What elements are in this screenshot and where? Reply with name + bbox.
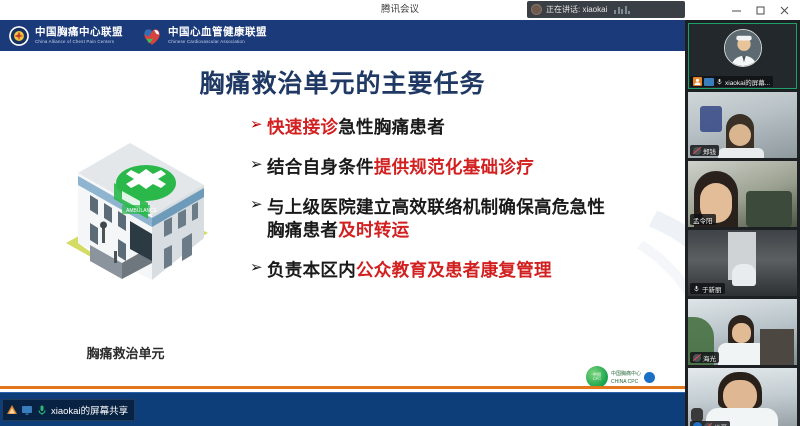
org-chest-pain-alliance: 中国胸痛中心联盟 China Alliance of Chest Pain Ce… [8,25,123,47]
participant-name: 于新丽 [702,284,722,294]
bullet-marker-icon: ➢ [250,156,267,173]
org-name-en: China Alliance of Chest Pain Centers [35,40,123,44]
bullet-text: 快速接诊急性胸痛患者 [267,116,445,139]
participant-rail[interactable]: xiaokai的屏幕... 郑钱 孟令阳 [685,20,800,426]
bullet-emphasis: 及时转运 [338,220,409,240]
microphone-icon [693,285,700,292]
participant-name: 党哥 [714,422,727,426]
cardiovascular-association-logo [141,25,163,47]
slide-watermark: 中国CPC 中国胸痛中心 CHINA CPC [586,366,655,388]
participant-tile[interactable]: 海光 [688,299,797,365]
doctor-avatar-icon [725,30,762,67]
participant-name: xiaokai的屏幕... [725,77,770,87]
bullet-plain: 负责本区内 [267,260,356,280]
taskbar-item-screen-share[interactable]: xiaokai的屏幕共享 [2,399,135,421]
speaking-indicator: 正在讲话: xiaokai [527,1,685,18]
watermark-line1: 中国胸痛中心 [611,370,641,377]
microphone-icon [36,404,48,416]
microphone-muted-icon [704,423,712,426]
bullet-plain: 急性胸痛患者 [338,117,445,137]
watermark-text: 中国胸痛中心 CHINA CPC [611,370,641,385]
participant-name-badge: 郑钱 [690,145,719,156]
shared-screen-stage[interactable]: 中国胸痛中心联盟 China Alliance of Chest Pain Ce… [0,20,685,392]
screen-share-tag-icon [704,78,714,86]
microphone-muted-icon [693,354,701,362]
participant-name-badge: 孟令阳 [690,214,716,225]
slide-content: 胸痛救治单元的主要任务 [0,51,685,392]
bullet-marker-icon: ➢ [250,196,267,213]
bullet-plain: 胸痛患者 [267,220,338,240]
microphone-muted-icon [693,147,701,155]
org-name-en: Chinese Cardiovascular Association [168,40,267,44]
participant-tile[interactable]: 于新丽 [688,230,797,296]
taskbar-item-label: xiaokai的屏幕共享 [51,403,128,417]
app-tag-icon [693,422,702,426]
participant-tile[interactable]: xiaokai的屏幕... [688,23,797,89]
bullet-plain: 与上级医院建立高效联络机制确保高危急性 [267,197,605,217]
org-cardiovascular-association: 中国心血管健康联盟 Chinese Cardiovascular Associa… [141,25,267,47]
bullet-emphasis: 快速接诊 [267,117,338,137]
participant-name-badge: 于新丽 [690,283,725,294]
list-item: ➢ 与上级医院建立高效联络机制确保高危急性 胸痛患者及时转运 [250,196,675,242]
close-icon[interactable] [772,0,796,20]
org-name-cn: 中国心血管健康联盟 [168,27,267,38]
bullet-emphasis: 提供规范化基础诊疗 [374,157,534,177]
watermark-line2: CHINA CPC [611,379,641,385]
illustration-caption: 胸痛救治单元 [18,343,233,362]
screen-share-border-strip [0,386,685,389]
microphone-icon [716,78,723,85]
bullet-marker-icon: ➢ [250,116,267,133]
audio-level-icon [614,6,630,14]
windows-taskbar[interactable]: xiaokai的屏幕共享 [0,392,685,426]
participant-name-badge: 党哥 [690,421,730,426]
participant-name: 海光 [703,353,716,363]
participant-tile[interactable]: 郑钱 [688,92,797,158]
maximize-icon[interactable] [748,0,772,20]
participant-tile[interactable]: 孟令阳 [688,161,797,227]
bullet-text: 负责本区内公众教育及患者康复管理 [267,259,552,282]
hospital-building-illustration: AMBULANCE [18,73,233,308]
avatar [724,29,762,67]
monitor-icon [21,404,33,416]
participant-name: 郑钱 [703,146,716,156]
participant-name-badge: xiaokai的屏幕... [690,76,773,87]
share-icon [6,404,18,416]
watermark-badge-icon [644,372,655,383]
cpc-watermark-icon: 中国CPC [586,366,608,388]
bullet-plain: 结合自身条件 [267,157,374,177]
org-name-cn: 中国胸痛中心联盟 [35,27,123,38]
bullet-text: 结合自身条件提供规范化基础诊疗 [267,156,534,179]
participant-name-badge: 海光 [690,352,719,363]
slide-header-banner: 中国胸痛中心联盟 China Alliance of Chest Pain Ce… [0,20,685,51]
participant-tile[interactable]: 党哥 [688,368,797,426]
bullet-emphasis: 公众教育及患者康复管理 [356,260,552,280]
speaker-avatar [531,4,542,15]
window-controls [724,0,796,20]
chest-pain-alliance-logo [8,25,30,47]
speaking-label: 正在讲话: xiaokai [546,4,607,15]
tencent-meeting-window: 腾讯会议 正在讲话: xiaokai [0,0,800,426]
list-item: ➢ 快速接诊急性胸痛患者 [250,116,675,139]
minimize-icon[interactable] [724,0,748,20]
svg-text:AMBULANCE: AMBULANCE [126,208,158,214]
list-item: ➢ 负责本区内公众教育及患者康复管理 [250,259,675,282]
list-item: ➢ 结合自身条件提供规范化基础诊疗 [250,156,675,179]
participant-name: 孟令阳 [693,215,713,225]
host-tag-icon [693,77,702,86]
bullet-marker-icon: ➢ [250,259,267,276]
window-titlebar: 腾讯会议 正在讲话: xiaokai [0,0,800,20]
slide-bullet-list: ➢ 快速接诊急性胸痛患者 ➢ 结合自身条件提供规范化基础诊疗 ➢ 与上级医院建立… [250,116,675,299]
bullet-text: 与上级医院建立高效联络机制确保高危急性 胸痛患者及时转运 [267,196,605,242]
